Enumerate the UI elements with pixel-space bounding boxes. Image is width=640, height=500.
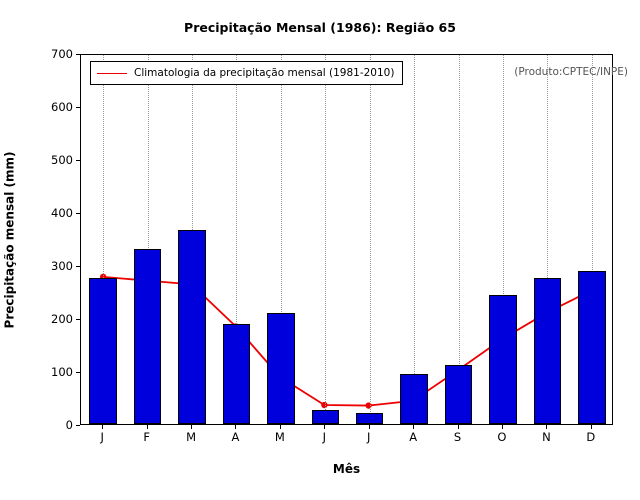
y-tick-label: 200 bbox=[37, 312, 73, 326]
y-tick-label: 400 bbox=[37, 206, 73, 220]
bar-o-9 bbox=[489, 295, 517, 424]
x-tick-mark bbox=[235, 425, 236, 429]
y-tick-label: 0 bbox=[37, 418, 73, 432]
x-tick-mark bbox=[458, 425, 459, 429]
bar-n-10 bbox=[534, 278, 562, 424]
y-tick-label: 100 bbox=[37, 365, 73, 379]
y-tick-mark bbox=[76, 266, 80, 267]
x-tick-label: F bbox=[132, 430, 162, 444]
gridline bbox=[325, 55, 327, 424]
x-tick-label: N bbox=[531, 430, 561, 444]
legend-entry-label: Climatologia da precipitação mensal (198… bbox=[134, 67, 394, 79]
x-tick-label: M bbox=[176, 430, 206, 444]
x-tick-label: A bbox=[398, 430, 428, 444]
x-tick-mark bbox=[147, 425, 148, 429]
x-tick-label: J bbox=[87, 430, 117, 444]
x-tick-label: J bbox=[309, 430, 339, 444]
y-tick-label: 600 bbox=[37, 100, 73, 114]
legend-line-swatch bbox=[97, 73, 127, 74]
y-axis-title-label: Precipitação mensal (mm) bbox=[2, 151, 16, 328]
page-title: Precipitação Mensal (1986): Região 65 bbox=[0, 20, 640, 35]
bar-a-3 bbox=[223, 324, 251, 424]
x-tick-label: O bbox=[487, 430, 517, 444]
bar-s-8 bbox=[445, 365, 473, 424]
bar-j-6 bbox=[356, 413, 384, 424]
plot-area bbox=[80, 54, 613, 425]
x-tick-mark bbox=[369, 425, 370, 429]
bar-m-4 bbox=[267, 313, 295, 424]
x-tick-mark bbox=[546, 425, 547, 429]
bar-m-2 bbox=[178, 230, 206, 424]
x-tick-mark bbox=[102, 425, 103, 429]
legend: Climatologia da precipitação mensal (198… bbox=[90, 61, 403, 85]
x-tick-label: D bbox=[576, 430, 606, 444]
y-tick-mark bbox=[76, 160, 80, 161]
y-tick-mark bbox=[76, 213, 80, 214]
y-tick-mark bbox=[76, 372, 80, 373]
x-tick-mark bbox=[591, 425, 592, 429]
x-tick-mark bbox=[502, 425, 503, 429]
bar-a-7 bbox=[400, 374, 428, 424]
x-tick-mark bbox=[191, 425, 192, 429]
bar-f-1 bbox=[134, 249, 162, 424]
bar-d-11 bbox=[578, 271, 606, 424]
bar-j-0 bbox=[89, 278, 117, 424]
x-tick-label: J bbox=[354, 430, 384, 444]
y-tick-label: 300 bbox=[37, 259, 73, 273]
x-tick-mark bbox=[324, 425, 325, 429]
source-annotation: (Produto:CPTEC/INPE) bbox=[514, 66, 628, 78]
bar-j-5 bbox=[312, 410, 340, 424]
chart-container: Precipitação Mensal (1986): Região 65 Pr… bbox=[0, 0, 640, 500]
y-tick-label: 700 bbox=[37, 47, 73, 61]
gridline bbox=[370, 55, 372, 424]
climatology-polyline bbox=[103, 277, 590, 406]
y-tick-mark bbox=[76, 319, 80, 320]
x-tick-label: S bbox=[443, 430, 473, 444]
x-tick-label: A bbox=[220, 430, 250, 444]
y-tick-mark bbox=[76, 107, 80, 108]
y-tick-mark bbox=[76, 425, 80, 426]
x-tick-mark bbox=[280, 425, 281, 429]
x-tick-mark bbox=[413, 425, 414, 429]
x-axis-title: Mês bbox=[80, 462, 613, 476]
y-tick-label: 500 bbox=[37, 153, 73, 167]
y-axis-title: Precipitação mensal (mm) bbox=[0, 54, 18, 425]
y-tick-mark bbox=[76, 54, 80, 55]
gridline bbox=[414, 55, 416, 424]
x-tick-label: M bbox=[265, 430, 295, 444]
